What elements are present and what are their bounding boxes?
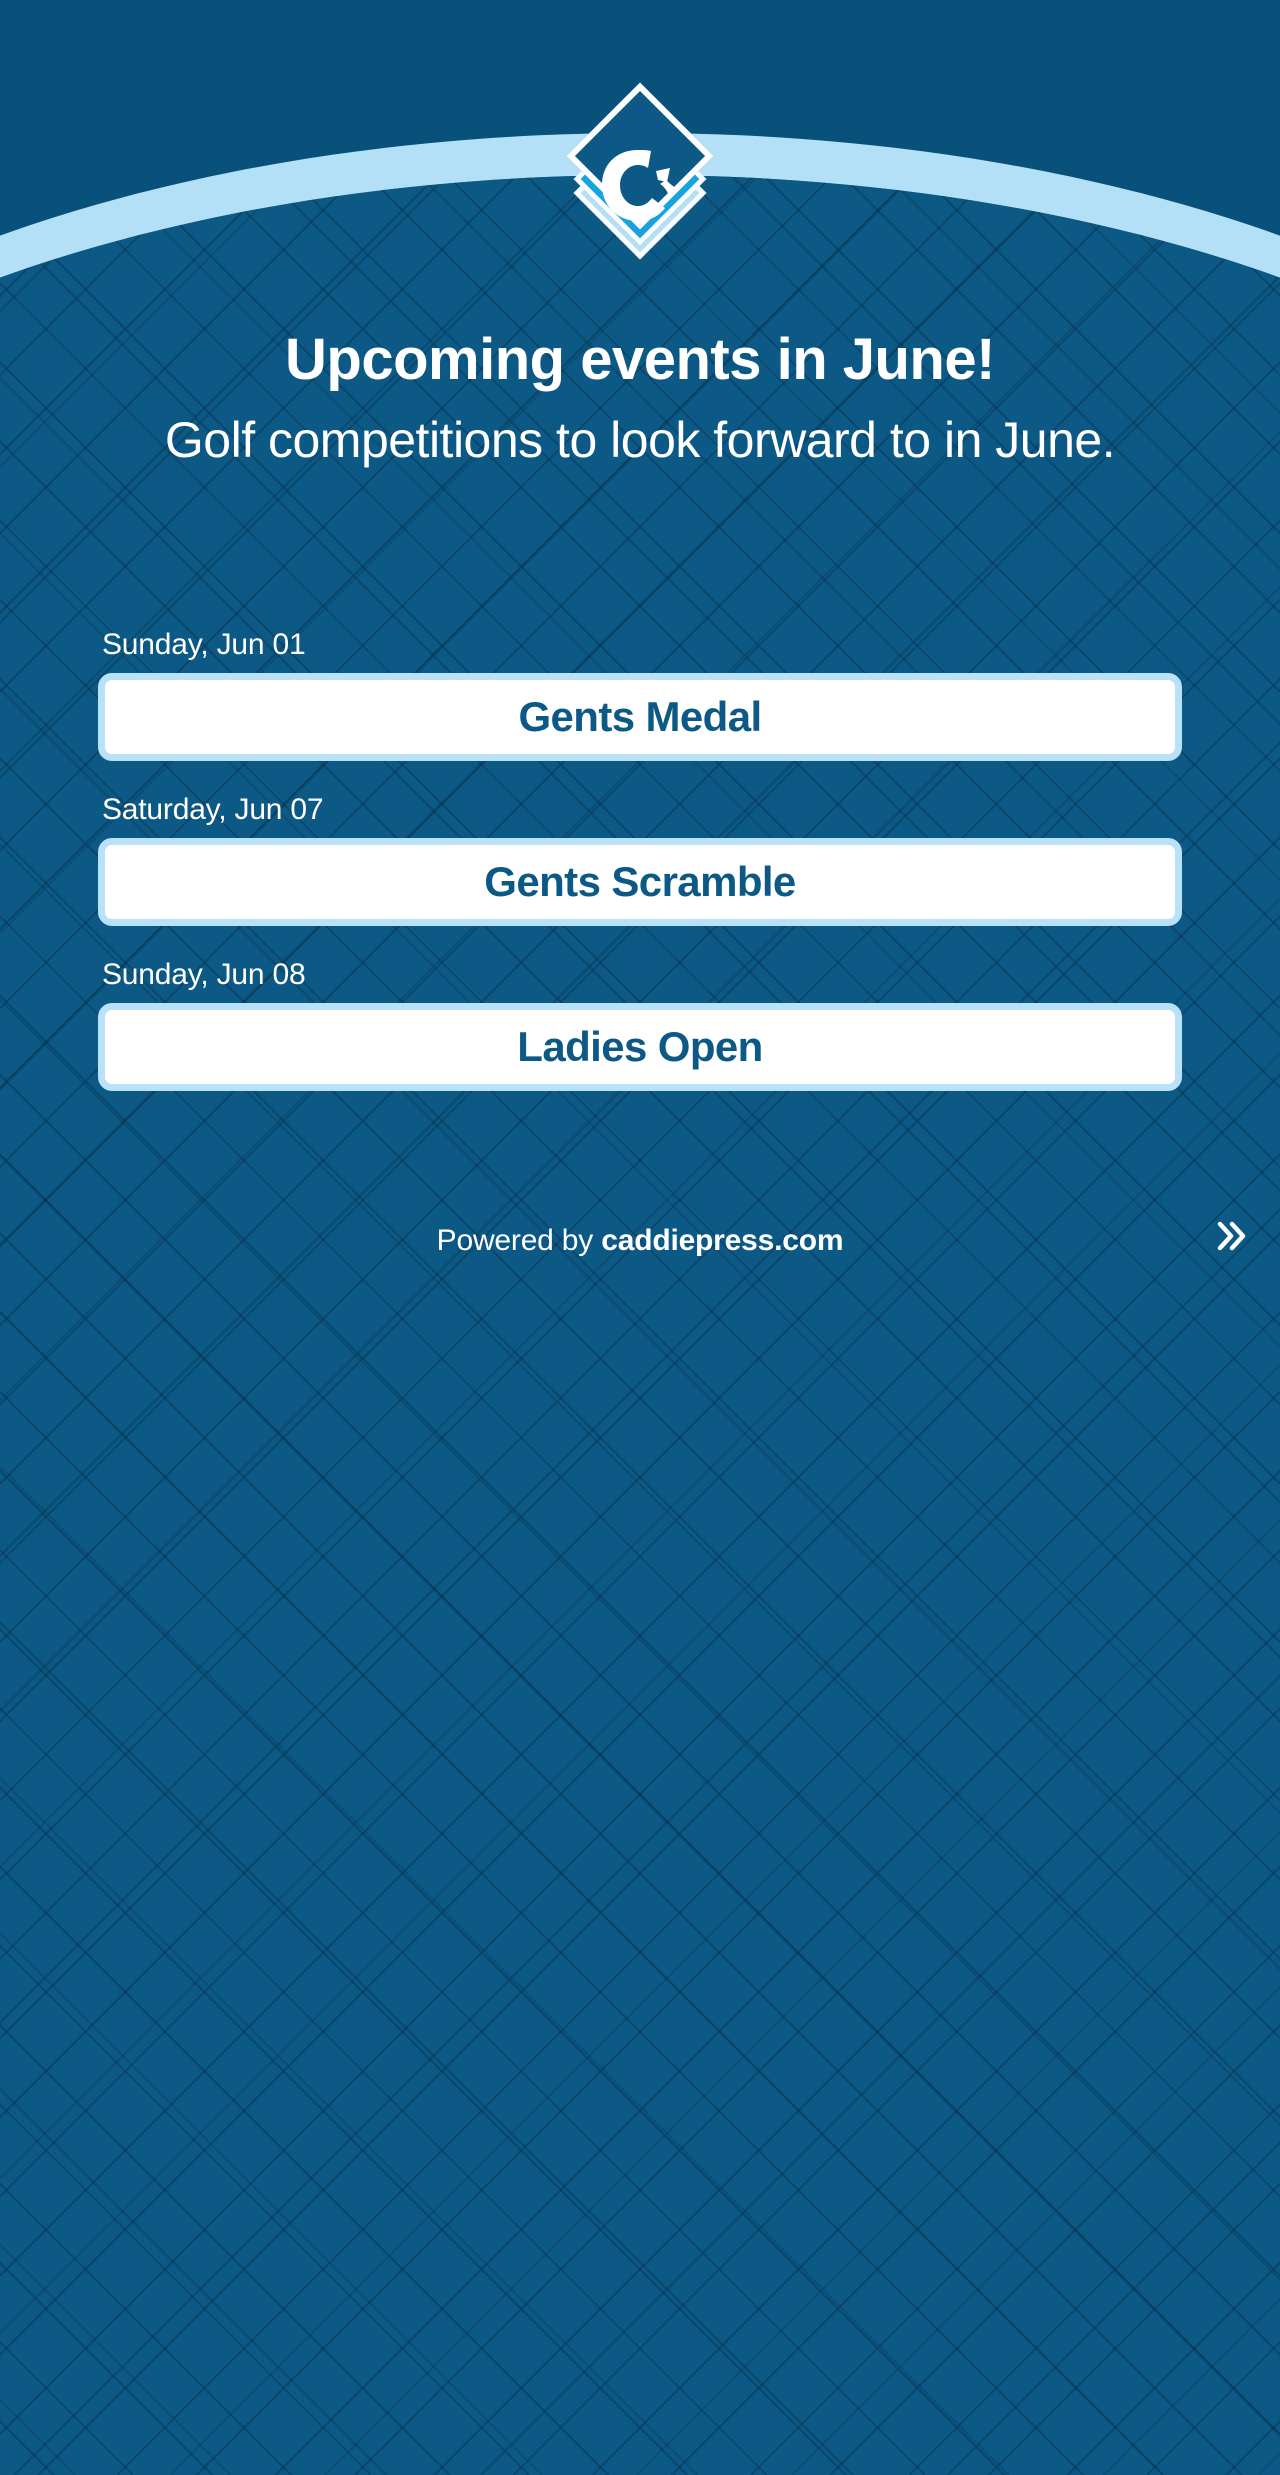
page-title: Upcoming events in June!	[0, 330, 1280, 391]
header-block: Upcoming events in June! Golf competitio…	[0, 330, 1280, 473]
list-item: Saturday, Jun 07 Gents Scramble	[98, 793, 1182, 926]
event-date-label: Sunday, Jun 08	[102, 958, 1182, 992]
event-date-label: Saturday, Jun 07	[102, 793, 1182, 827]
event-card[interactable]: Gents Medal	[98, 673, 1182, 761]
event-name: Gents Medal	[518, 693, 761, 741]
page-subtitle: Golf competitions to look forward to in …	[110, 407, 1170, 473]
brand-logo	[0, 88, 1280, 248]
event-card[interactable]: Gents Scramble	[98, 838, 1182, 926]
logo-c-golf-icon	[594, 146, 686, 226]
event-name: Ladies Open	[517, 1023, 762, 1071]
events-list: Sunday, Jun 01 Gents Medal Saturday, Jun…	[98, 628, 1182, 1091]
event-card[interactable]: Ladies Open	[98, 1003, 1182, 1091]
background-pattern-herringbone	[0, 175, 1280, 2475]
powered-by-label: Powered by	[437, 1224, 602, 1257]
event-date-label: Sunday, Jun 01	[102, 628, 1182, 662]
footer-brand-link[interactable]: caddiepress.com	[601, 1224, 843, 1257]
event-name: Gents Scramble	[484, 858, 795, 906]
list-item: Sunday, Jun 08 Ladies Open	[98, 958, 1182, 1091]
list-item: Sunday, Jun 01 Gents Medal	[98, 628, 1182, 761]
double-chevron-right-icon[interactable]	[1208, 1214, 1252, 1258]
footer: Powered by caddiepress.com	[0, 1224, 1280, 1258]
